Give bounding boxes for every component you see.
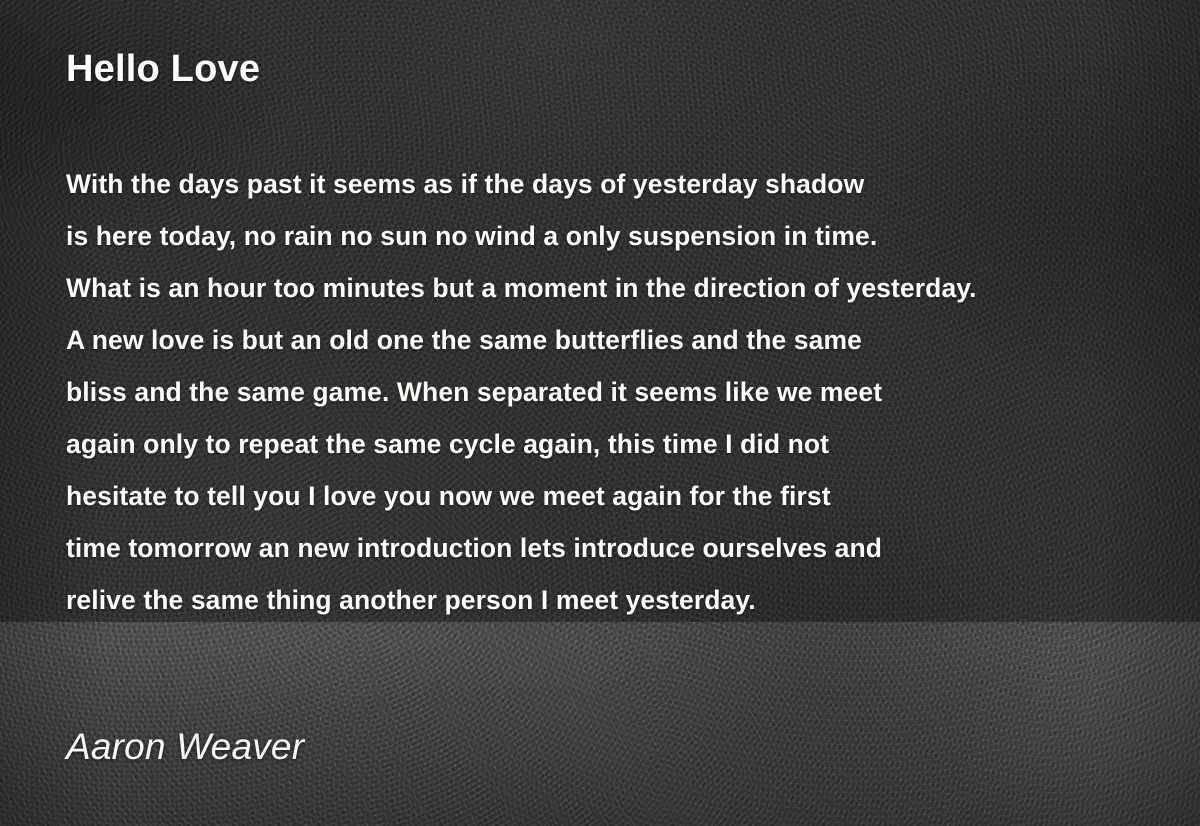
poem-line: hesitate to tell you I love you now we m… — [66, 470, 1186, 522]
poem-line: bliss and the same game. When separated … — [66, 366, 1186, 418]
poem-line: again only to repeat the same cycle agai… — [66, 418, 1186, 470]
poem-body: With the days past it seems as if the da… — [66, 158, 1186, 626]
poem-line: With the days past it seems as if the da… — [66, 158, 1186, 210]
poem-line: is here today, no rain no sun no wind a … — [66, 210, 1186, 262]
poem-image-card: Hello Love With the days past it seems a… — [0, 0, 1200, 826]
poem-line: What is an hour too minutes but a moment… — [66, 262, 1186, 314]
poem-author: Aaron Weaver — [66, 726, 304, 768]
poem-content: Hello Love With the days past it seems a… — [0, 0, 1200, 826]
poem-line: A new love is but an old one the same bu… — [66, 314, 1186, 366]
poem-line: relive the same thing another person I m… — [66, 574, 1186, 626]
poem-title: Hello Love — [66, 48, 260, 91]
poem-line: time tomorrow an new introduction lets i… — [66, 522, 1186, 574]
